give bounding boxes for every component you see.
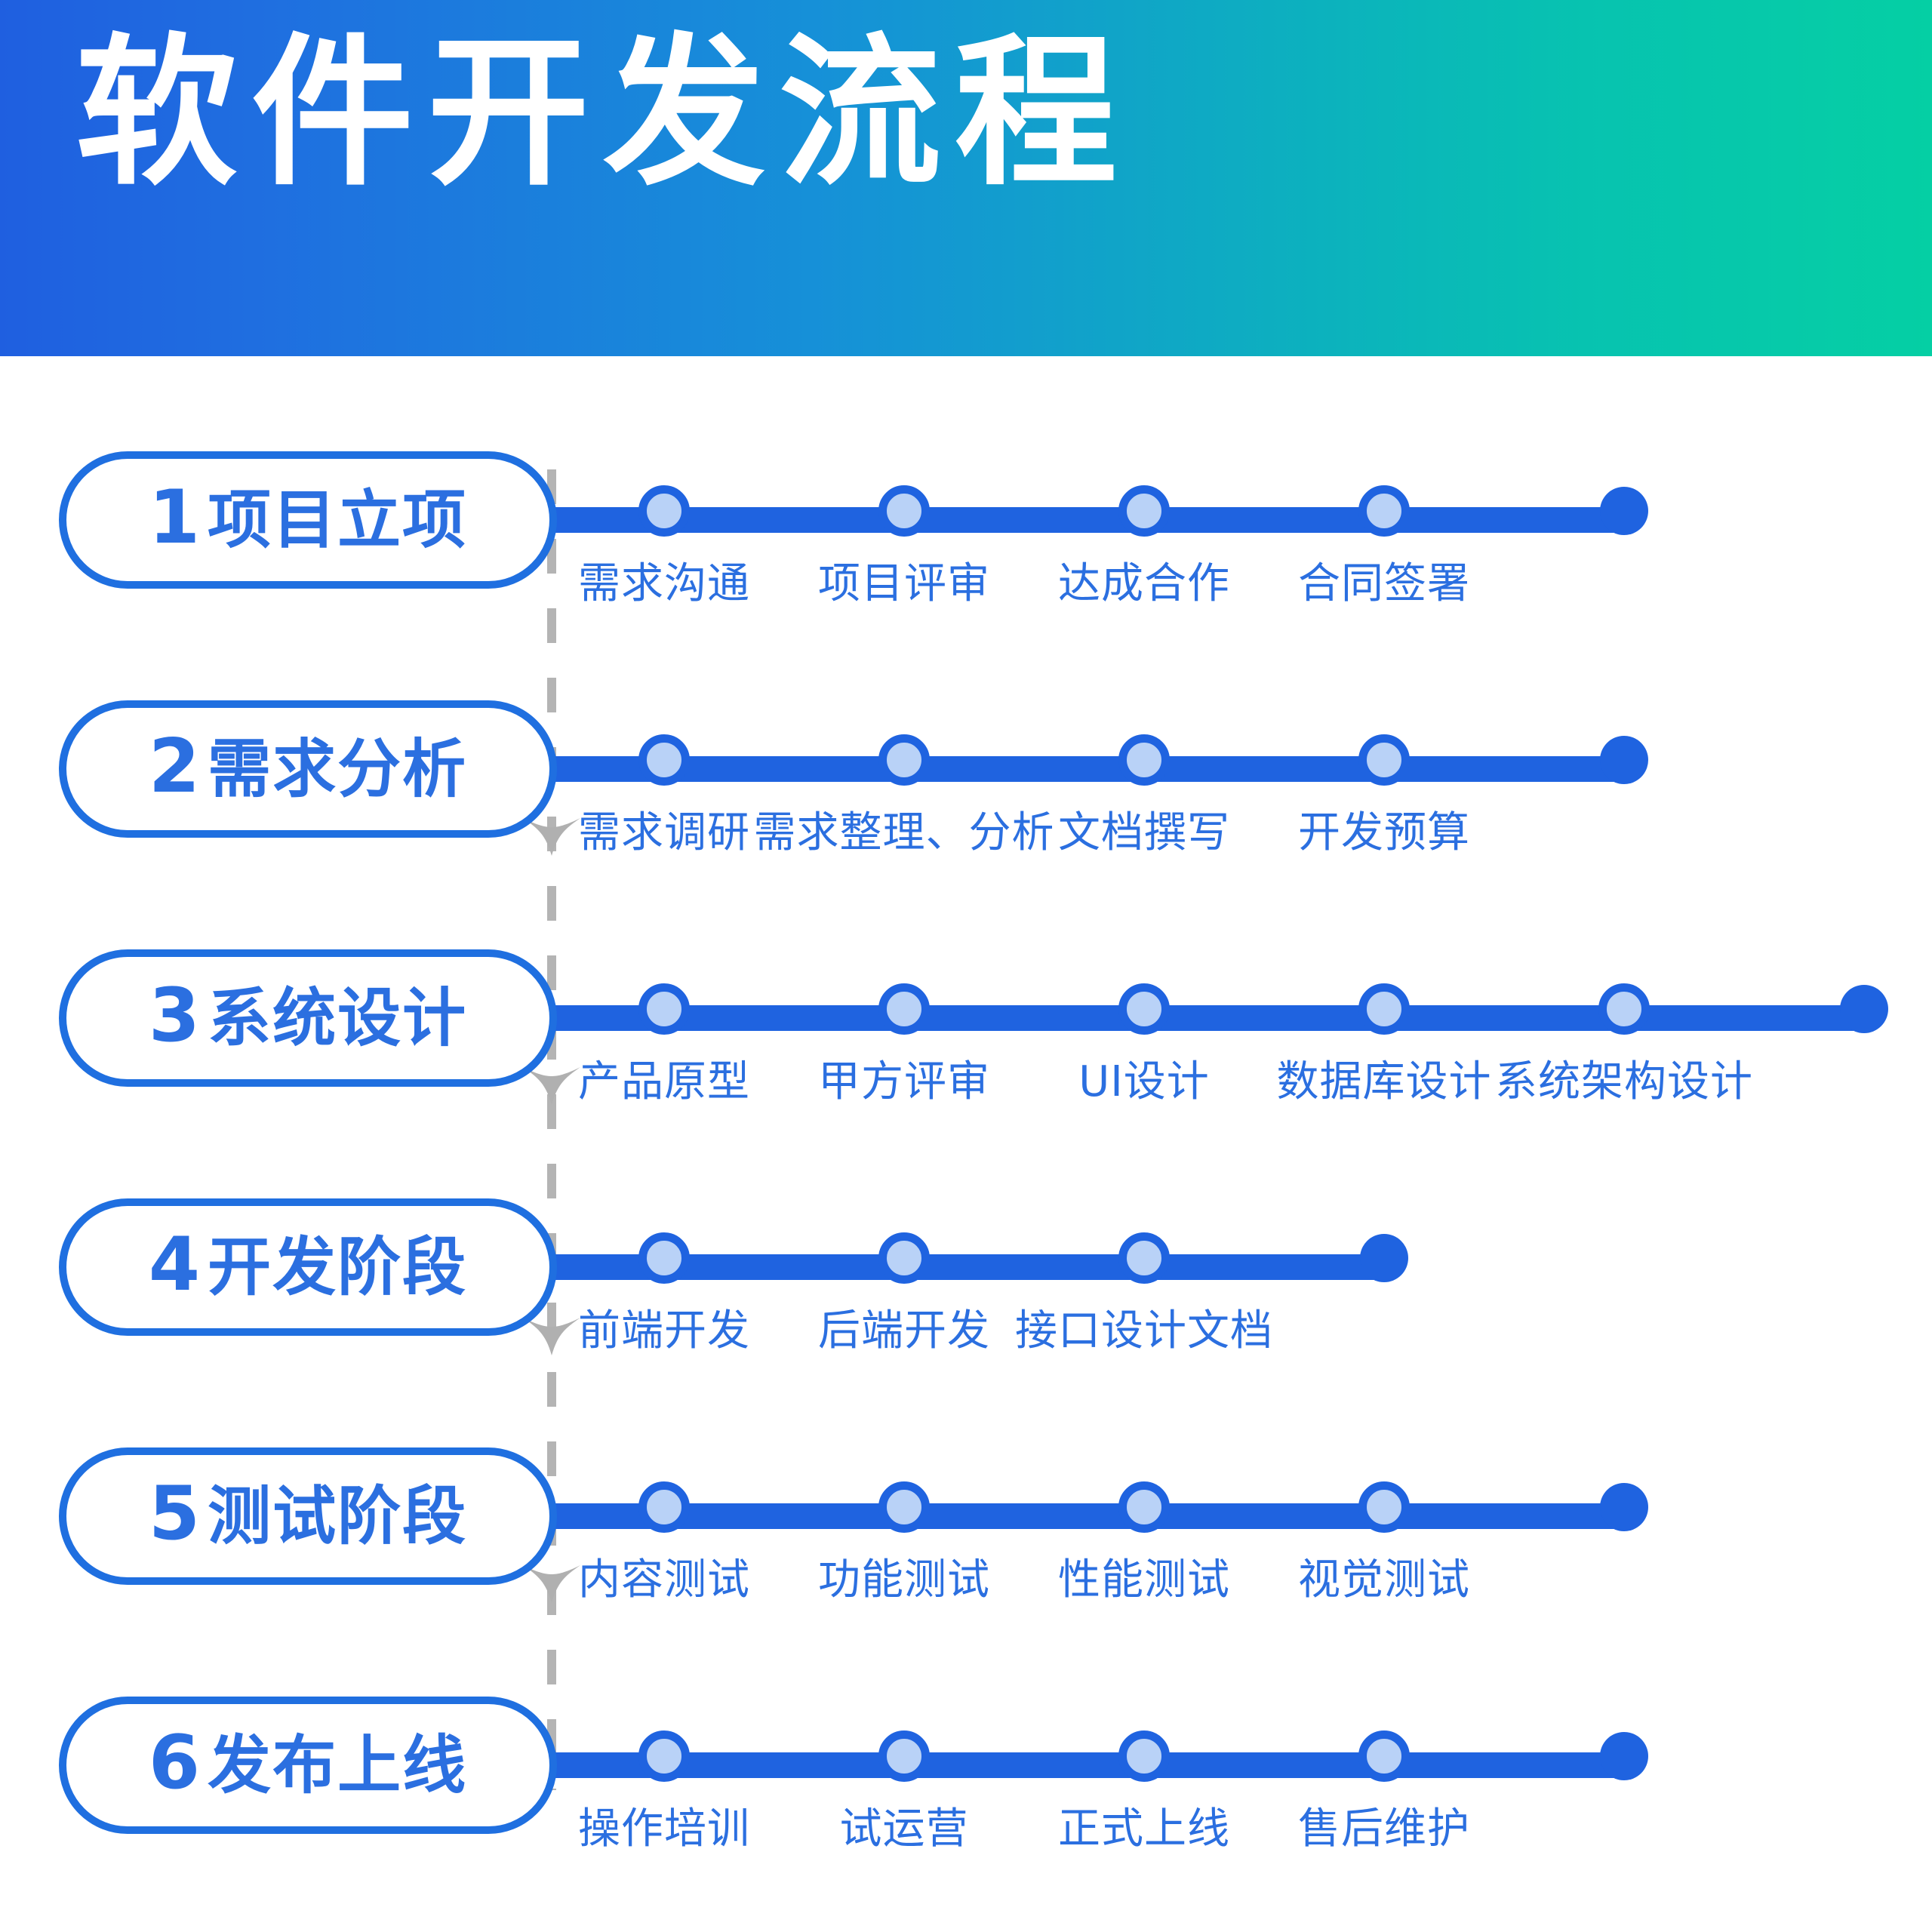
step-label: 需求沟通	[578, 549, 750, 611]
step-label: 需求调研	[578, 798, 750, 860]
stage-row: 4开发阶段前端开发后端开发接口设计文档	[0, 1185, 1932, 1434]
step-dot[interactable]	[1358, 485, 1410, 537]
stage-title: 发布上线	[208, 1734, 467, 1797]
stage-track	[551, 507, 1624, 533]
step-dot[interactable]	[1358, 983, 1410, 1035]
step-label: 后端开发	[818, 1297, 990, 1358]
step-dot[interactable]	[878, 485, 930, 537]
stage-pill-4[interactable]: 4开发阶段	[59, 1198, 557, 1336]
stage-track	[551, 756, 1624, 782]
flow-diagram: 1项目立项需求沟通项目评审达成合作合同签署2需求分析需求调研需求整理、分析文档撰…	[0, 356, 1932, 1909]
stage-row: 3系统设计产品原型甲方评审UI设计数据库设计系统架构设计	[0, 936, 1932, 1185]
stage-end-dot	[1360, 1234, 1408, 1282]
stage-number: 5	[149, 1477, 200, 1551]
step-label: 试运营	[840, 1795, 969, 1856]
step-dot[interactable]	[1118, 1481, 1170, 1533]
page-title: 软件开发流程	[75, 32, 1131, 194]
step-dot[interactable]	[638, 1232, 690, 1284]
step-dot[interactable]	[1598, 983, 1650, 1035]
flow-arrow-icon	[521, 817, 582, 863]
step-label: 项目评审	[818, 549, 990, 611]
step-label: 性能测试	[1058, 1546, 1230, 1607]
step-dot[interactable]	[1118, 983, 1170, 1035]
stage-pill-5[interactable]: 5测试阶段	[59, 1447, 557, 1585]
stage-end-dot	[1600, 736, 1648, 784]
step-dot[interactable]	[878, 734, 930, 786]
stage-number: 3	[149, 979, 200, 1053]
step-dot[interactable]	[1118, 485, 1170, 537]
stage-pill-6[interactable]: 6发布上线	[59, 1697, 557, 1834]
step-label: 功能测试	[818, 1546, 990, 1607]
step-dot[interactable]	[878, 1481, 930, 1533]
step-dot[interactable]	[878, 1730, 930, 1782]
stage-end-dot	[1600, 1732, 1648, 1780]
step-dot[interactable]	[1118, 1730, 1170, 1782]
stage-end-dot	[1600, 1483, 1648, 1531]
step-label: 视觉测试	[1298, 1546, 1470, 1607]
step-dot[interactable]	[638, 983, 690, 1035]
stage-title: 项目立项	[208, 488, 467, 552]
step-label: 需求整理、分析	[754, 798, 1055, 860]
step-dot[interactable]	[1358, 1481, 1410, 1533]
step-label: 售后维护	[1298, 1795, 1470, 1856]
stage-end-dot	[1840, 985, 1888, 1033]
stage-end-dot	[1600, 487, 1648, 535]
step-label: 文档撰写	[1058, 798, 1230, 860]
step-label: 正式上线	[1058, 1795, 1230, 1856]
step-dot[interactable]	[1118, 734, 1170, 786]
stage-track	[551, 1005, 1864, 1031]
step-label: 接口设计文档	[1015, 1297, 1273, 1358]
stage-number: 4	[149, 1228, 200, 1302]
step-label: 内容测试	[578, 1546, 750, 1607]
step-dot[interactable]	[1118, 1232, 1170, 1284]
step-dot[interactable]	[1358, 734, 1410, 786]
header-banner: 软件开发流程	[0, 0, 1932, 356]
step-dot[interactable]	[638, 734, 690, 786]
step-label: 甲方评审	[818, 1048, 990, 1109]
stage-pill-1[interactable]: 1项目立项	[59, 451, 557, 589]
stage-number: 2	[149, 730, 200, 804]
flow-arrow-icon	[521, 1564, 582, 1611]
step-label: 数据库设计	[1277, 1048, 1492, 1109]
stage-number: 6	[149, 1726, 200, 1800]
stage-row: 5测试阶段内容测试功能测试性能测试视觉测试	[0, 1434, 1932, 1683]
step-label: 开发预算	[1298, 798, 1470, 860]
stage-row: 6发布上线操作培训试运营正式上线售后维护	[0, 1683, 1932, 1932]
stage-track	[551, 1503, 1624, 1529]
stage-pill-3[interactable]: 3系统设计	[59, 949, 557, 1087]
stage-title: 系统设计	[208, 986, 467, 1050]
stage-title: 需求分析	[208, 737, 467, 801]
stage-row: 2需求分析需求调研需求整理、分析文档撰写开发预算	[0, 687, 1932, 936]
step-label: UI设计	[1078, 1048, 1210, 1109]
step-dot[interactable]	[878, 983, 930, 1035]
step-label: 产品原型	[578, 1048, 750, 1109]
stage-title: 测试阶段	[208, 1484, 467, 1548]
step-dot[interactable]	[638, 1481, 690, 1533]
stage-pill-2[interactable]: 2需求分析	[59, 700, 557, 838]
step-label: 系统架构设计	[1495, 1048, 1753, 1109]
step-label: 前端开发	[578, 1297, 750, 1358]
stage-number: 1	[149, 481, 200, 555]
step-dot[interactable]	[878, 1232, 930, 1284]
stage-title: 开发阶段	[208, 1235, 467, 1299]
step-dot[interactable]	[638, 1730, 690, 1782]
step-dot[interactable]	[1358, 1730, 1410, 1782]
stage-row: 1项目立项需求沟通项目评审达成合作合同签署	[0, 438, 1932, 687]
step-dot[interactable]	[638, 485, 690, 537]
step-label: 达成合作	[1058, 549, 1230, 611]
step-label: 操作培训	[578, 1795, 750, 1856]
stage-track	[551, 1752, 1624, 1778]
flow-arrow-icon	[521, 1066, 582, 1112]
flow-arrow-icon	[521, 1316, 582, 1363]
step-label: 合同签署	[1298, 549, 1470, 611]
